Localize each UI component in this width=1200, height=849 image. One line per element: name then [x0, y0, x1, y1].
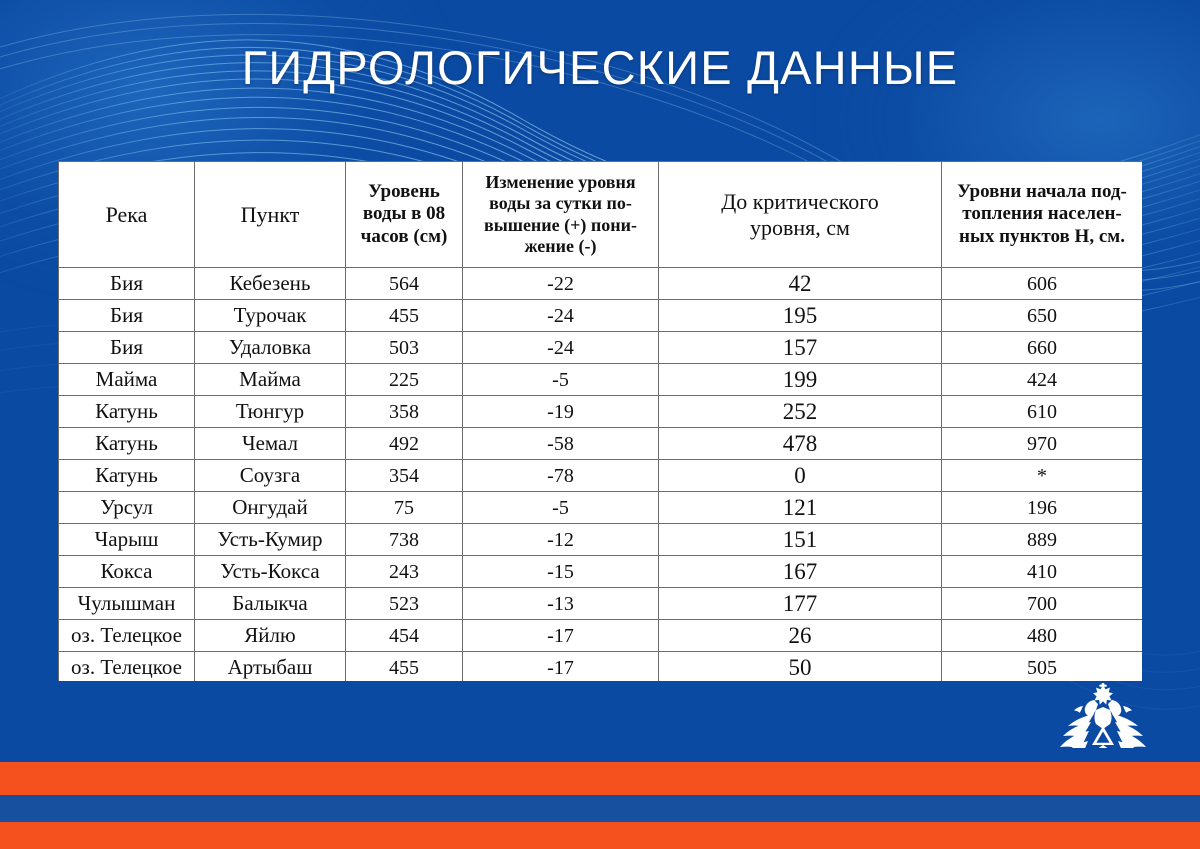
cell-point: Усть-Кумир	[195, 524, 346, 556]
cell-flood-start: 196	[942, 492, 1143, 524]
column-header-to-critical: До критического уровня, см	[659, 162, 942, 268]
cell-daily-change: -58	[463, 428, 659, 460]
cell-to-critical: 26	[659, 620, 942, 652]
cell-point: Майма	[195, 364, 346, 396]
cell-water-level: 492	[346, 428, 463, 460]
cell-point: Турочак	[195, 300, 346, 332]
cell-daily-change: -12	[463, 524, 659, 556]
cell-to-critical: 42	[659, 268, 942, 300]
cell-water-level: 454	[346, 620, 463, 652]
cell-to-critical: 121	[659, 492, 942, 524]
cell-flood-start: 660	[942, 332, 1143, 364]
cell-point: Удаловка	[195, 332, 346, 364]
table-row: оз. ТелецкоеЯйлю454-1726480	[59, 620, 1143, 652]
cell-point: Артыбаш	[195, 652, 346, 682]
cell-to-critical: 157	[659, 332, 942, 364]
cell-water-level: 523	[346, 588, 463, 620]
footer-stripe-orange-bottom	[0, 822, 1200, 849]
cell-water-level: 354	[346, 460, 463, 492]
cell-river: Катунь	[59, 396, 195, 428]
cell-to-critical: 195	[659, 300, 942, 332]
cell-flood-start: 889	[942, 524, 1143, 556]
table-row: КатуньСоузга354-780*	[59, 460, 1143, 492]
cell-to-critical: 50	[659, 652, 942, 682]
slide-root: ГИДРОЛОГИЧЕСКИЕ ДАННЫЕ Река Пункт Уровен…	[0, 0, 1200, 849]
cell-water-level: 503	[346, 332, 463, 364]
cell-point: Онгудай	[195, 492, 346, 524]
table-row: УрсулОнгудай75-5121196	[59, 492, 1143, 524]
cell-river: Кокса	[59, 556, 195, 588]
cell-flood-start: 410	[942, 556, 1143, 588]
cell-daily-change: -78	[463, 460, 659, 492]
table-header: Река Пункт Уровень воды в 08 часов (см) …	[59, 162, 1143, 268]
cell-to-critical: 0	[659, 460, 942, 492]
column-header-river: Река	[59, 162, 195, 268]
cell-water-level: 564	[346, 268, 463, 300]
cell-daily-change: -24	[463, 300, 659, 332]
cell-point: Соузга	[195, 460, 346, 492]
cell-flood-start: 700	[942, 588, 1143, 620]
cell-river: Урсул	[59, 492, 195, 524]
table-row: БияКебезень564-2242606	[59, 268, 1143, 300]
cell-water-level: 75	[346, 492, 463, 524]
cell-to-critical: 478	[659, 428, 942, 460]
cell-point: Тюнгур	[195, 396, 346, 428]
footer-stripe-blue-top	[0, 748, 1200, 762]
table-row: ЧулышманБалыкча523-13177700	[59, 588, 1143, 620]
cell-water-level: 738	[346, 524, 463, 556]
table-body: БияКебезень564-2242606БияТурочак455-2419…	[59, 268, 1143, 682]
cell-river: Чарыш	[59, 524, 195, 556]
cell-point: Кебезень	[195, 268, 346, 300]
cell-point: Усть-Кокса	[195, 556, 346, 588]
cell-flood-start: 424	[942, 364, 1143, 396]
cell-to-critical: 177	[659, 588, 942, 620]
slide-title: ГИДРОЛОГИЧЕСКИЕ ДАННЫЕ	[0, 40, 1200, 95]
cell-flood-start: 650	[942, 300, 1143, 332]
cell-to-critical: 151	[659, 524, 942, 556]
column-header-flood-start: Уровни начала под- топления населен- ных…	[942, 162, 1143, 268]
hydrology-data-table: Река Пункт Уровень воды в 08 часов (см) …	[58, 161, 1142, 681]
cell-daily-change: -13	[463, 588, 659, 620]
cell-daily-change: -17	[463, 620, 659, 652]
cell-flood-start: 505	[942, 652, 1143, 682]
cell-daily-change: -5	[463, 364, 659, 396]
table-row: КоксаУсть-Кокса243-15167410	[59, 556, 1143, 588]
cell-water-level: 455	[346, 300, 463, 332]
table-row: оз. ТелецкоеАртыбаш455-1750505	[59, 652, 1143, 682]
table-row: КатуньТюнгур358-19252610	[59, 396, 1143, 428]
table-row: БияТурочак455-24195650	[59, 300, 1143, 332]
cell-daily-change: -5	[463, 492, 659, 524]
cell-to-critical: 199	[659, 364, 942, 396]
cell-river: Катунь	[59, 460, 195, 492]
column-header-point: Пункт	[195, 162, 346, 268]
cell-flood-start: *	[942, 460, 1143, 492]
cell-daily-change: -19	[463, 396, 659, 428]
cell-daily-change: -17	[463, 652, 659, 682]
cell-river: Майма	[59, 364, 195, 396]
cell-daily-change: -22	[463, 268, 659, 300]
cell-flood-start: 610	[942, 396, 1143, 428]
cell-river: Бия	[59, 300, 195, 332]
cell-daily-change: -24	[463, 332, 659, 364]
table-row: ЧарышУсть-Кумир738-12151889	[59, 524, 1143, 556]
footer-stripe-blue-bottom	[0, 795, 1200, 822]
column-header-water-level: Уровень воды в 08 часов (см)	[346, 162, 463, 268]
cell-water-level: 358	[346, 396, 463, 428]
cell-river: оз. Телецкое	[59, 652, 195, 682]
cell-daily-change: -15	[463, 556, 659, 588]
cell-point: Яйлю	[195, 620, 346, 652]
table-header-row: Река Пункт Уровень воды в 08 часов (см) …	[59, 162, 1143, 268]
table-row: БияУдаловка503-24157660	[59, 332, 1143, 364]
cell-water-level: 243	[346, 556, 463, 588]
cell-point: Балыкча	[195, 588, 346, 620]
cell-flood-start: 480	[942, 620, 1143, 652]
cell-water-level: 225	[346, 364, 463, 396]
cell-point: Чемал	[195, 428, 346, 460]
cell-river: Чулышман	[59, 588, 195, 620]
table-row: МаймаМайма225-5199424	[59, 364, 1143, 396]
cell-to-critical: 167	[659, 556, 942, 588]
cell-to-critical: 252	[659, 396, 942, 428]
footer-stripe-orange-top	[0, 762, 1200, 795]
cell-river: оз. Телецкое	[59, 620, 195, 652]
hydrology-table-container: Река Пункт Уровень воды в 08 часов (см) …	[58, 161, 1142, 681]
cell-river: Бия	[59, 332, 195, 364]
column-header-daily-change: Изменение уровня воды за сутки по- вышен…	[463, 162, 659, 268]
cell-flood-start: 970	[942, 428, 1143, 460]
cell-river: Бия	[59, 268, 195, 300]
cell-river: Катунь	[59, 428, 195, 460]
cell-flood-start: 606	[942, 268, 1143, 300]
table-row: КатуньЧемал492-58478970	[59, 428, 1143, 460]
cell-water-level: 455	[346, 652, 463, 682]
